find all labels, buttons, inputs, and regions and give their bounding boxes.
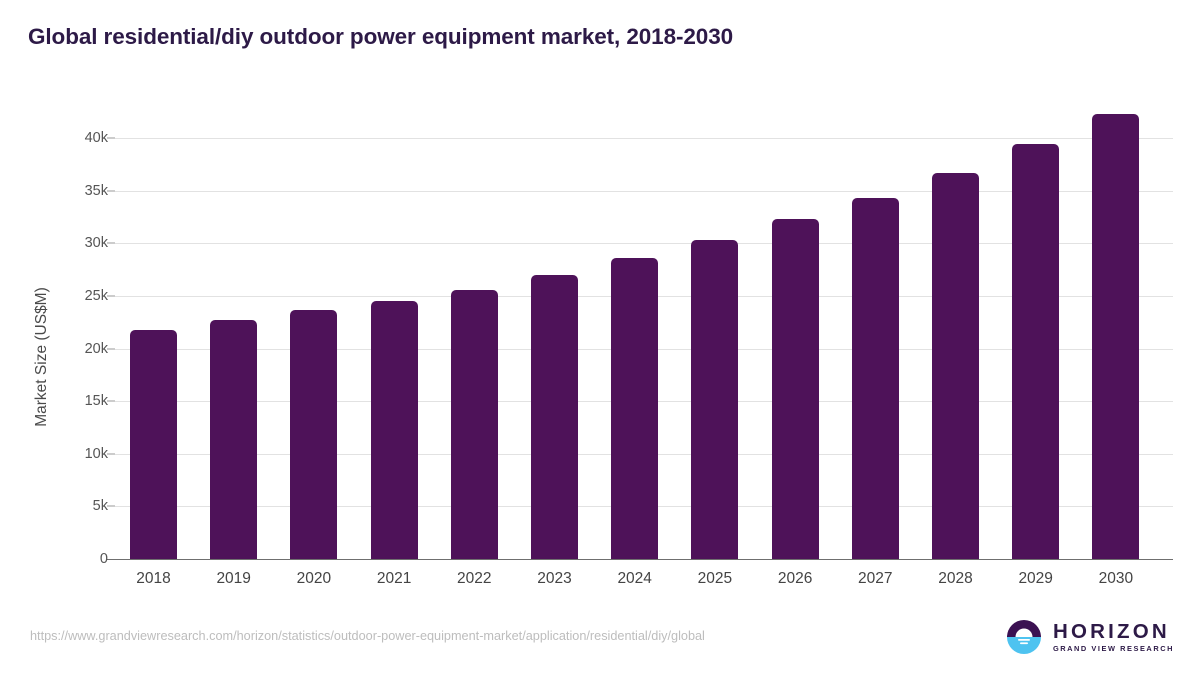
- bar[interactable]: [852, 198, 899, 559]
- bar[interactable]: [772, 219, 819, 559]
- bar[interactable]: [611, 258, 658, 559]
- x-tick-label: 2028: [911, 570, 1001, 588]
- horizon-logo-icon: [1004, 617, 1044, 657]
- chart-page: Global residential/diy outdoor power equ…: [0, 0, 1200, 675]
- x-tick-label: 2030: [1071, 570, 1161, 588]
- source-url[interactable]: https://www.grandviewresearch.com/horizo…: [30, 629, 705, 643]
- bar[interactable]: [210, 320, 257, 559]
- bar[interactable]: [451, 290, 498, 559]
- bar[interactable]: [531, 275, 578, 559]
- bar[interactable]: [932, 173, 979, 559]
- bar[interactable]: [1092, 114, 1139, 559]
- x-tick-label: 2025: [670, 570, 760, 588]
- x-tick-label: 2029: [991, 570, 1081, 588]
- horizon-logo: HORIZON GRAND VIEW RESEARCH: [1004, 617, 1174, 657]
- horizon-logo-text: HORIZON GRAND VIEW RESEARCH: [1053, 622, 1174, 653]
- bar[interactable]: [130, 330, 177, 559]
- x-tick-label: 2024: [590, 570, 680, 588]
- x-tick-label: 2020: [269, 570, 359, 588]
- x-tick-label: 2018: [109, 570, 199, 588]
- x-tick-label: 2027: [830, 570, 920, 588]
- logo-tagline: GRAND VIEW RESEARCH: [1053, 645, 1174, 652]
- bar[interactable]: [290, 310, 337, 559]
- x-tick-label: 2019: [189, 570, 279, 588]
- bar[interactable]: [691, 240, 738, 559]
- x-tick-label: 2023: [510, 570, 600, 588]
- chart-plot-area: Market Size (US$M) 05k10k15k20k25k30k35k…: [0, 0, 1200, 675]
- bars-group: 2018201920202021202220232024202520262027…: [0, 0, 1200, 675]
- x-tick-label: 2021: [349, 570, 439, 588]
- logo-wordmark: HORIZON: [1053, 622, 1174, 643]
- x-tick-label: 2022: [429, 570, 519, 588]
- x-tick-label: 2026: [750, 570, 840, 588]
- bar[interactable]: [1012, 144, 1059, 559]
- bar[interactable]: [371, 301, 418, 559]
